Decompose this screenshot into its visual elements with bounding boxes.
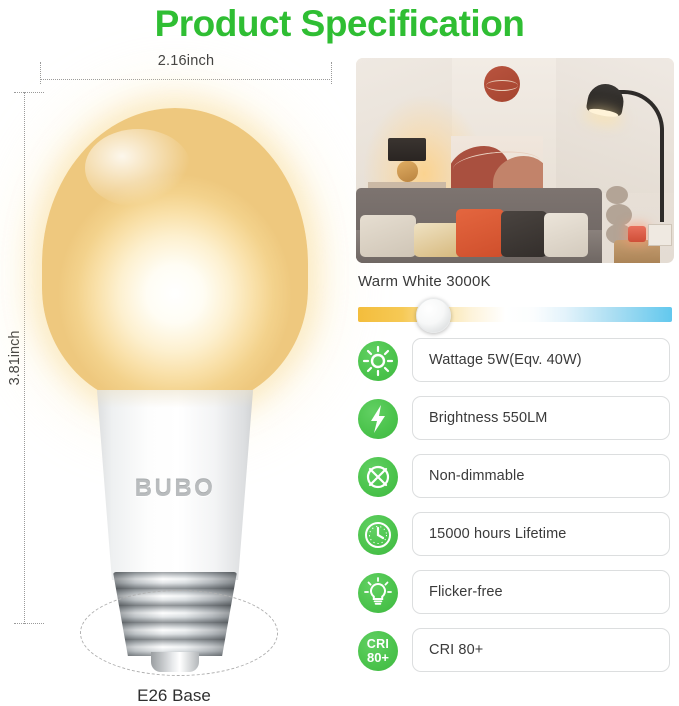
feature-text-dimmable: Non-dimmable [413,468,525,484]
base-highlight-ellipse [80,590,278,676]
width-dimension-line [40,79,332,80]
photo-pillow-orange [456,209,504,257]
feature-row-wattage: Wattage 5W(Eqv. 40W) [356,336,674,394]
color-temperature-slider[interactable] [358,307,672,322]
feature-pill-flicker: Flicker-free [412,570,670,614]
color-temperature-slider-knob[interactable] [416,298,451,333]
feature-list: Wattage 5W(Eqv. 40W) Brightness 550LM [356,336,674,684]
feature-row-cri: CRI 80+ CRI 80+ [356,626,674,684]
feature-row-lifetime: 15000 hours Lifetime [356,510,674,568]
photo-pillow-beige [544,213,588,257]
feature-pill-cri: CRI 80+ [412,628,670,672]
bulb-diagram-panel: 2.16inch 3.81inch BUBO E26 Base [0,50,348,676]
feature-text-flicker: Flicker-free [413,584,503,600]
lightning-bolt-icon [358,399,398,439]
cri-badge-bottom: 80+ [367,651,389,664]
clock-icon [358,515,398,555]
sun-icon [358,341,398,381]
feature-text-wattage: Wattage 5W(Eqv. 40W) [413,352,582,368]
photo-circle-artwork [484,66,520,102]
photo-pillow-gold [414,223,462,257]
feature-text-lifetime: 15000 hours Lifetime [413,526,566,542]
photo-pillow-geometric [501,211,547,257]
photo-table-lamp-base [397,161,418,182]
photo-pillow-cream [360,215,416,257]
width-dimension-label: 2.16inch [0,53,372,69]
width-tick-left [40,62,41,84]
height-dimension-line [24,92,25,624]
page-title: Product Specification [0,0,679,50]
feature-text-cri: CRI 80+ [413,642,483,658]
photo-mountain-artwork [451,136,543,188]
feature-pill-brightness: Brightness 550LM [412,396,670,440]
led-bulb-image: BUBO E26 Base [28,90,320,680]
feature-pill-lifetime: 15000 hours Lifetime [412,512,670,556]
light-bulb-icon [358,573,398,613]
base-type-label: E26 Base [28,686,320,706]
cri-badge-icon: CRI 80+ [358,631,398,671]
color-temperature-label: Warm White 3000K [358,273,491,290]
cri-badge-top: CRI [367,638,389,651]
feature-row-dimmable: Non-dimmable [356,452,674,510]
warm-lit-living-room-photo [356,58,674,263]
height-dimension-label: 3.81inch [7,313,23,403]
bulb-glass-globe [42,108,308,408]
photo-picture-frame [648,224,672,246]
photo-sofa [356,188,602,263]
width-tick-right [331,62,332,84]
photo-candle [628,226,646,242]
product-specification-page: Product Specification 2.16inch 3.81inch … [0,0,679,676]
feature-pill-dimmable: Non-dimmable [412,454,670,498]
feature-row-flicker: Flicker-free [356,568,674,626]
specs-panel: Warm White 3000K W [356,58,674,676]
bulb-plastic-housing: BUBO [92,390,258,580]
feature-row-brightness: Brightness 550LM [356,394,674,452]
no-dimmer-icon [358,457,398,497]
feature-text-brightness: Brightness 550LM [413,410,547,426]
brand-logo-text: BUBO [92,475,258,503]
feature-pill-wattage: Wattage 5W(Eqv. 40W) [412,338,670,382]
photo-table-lamp-shade [388,138,426,161]
